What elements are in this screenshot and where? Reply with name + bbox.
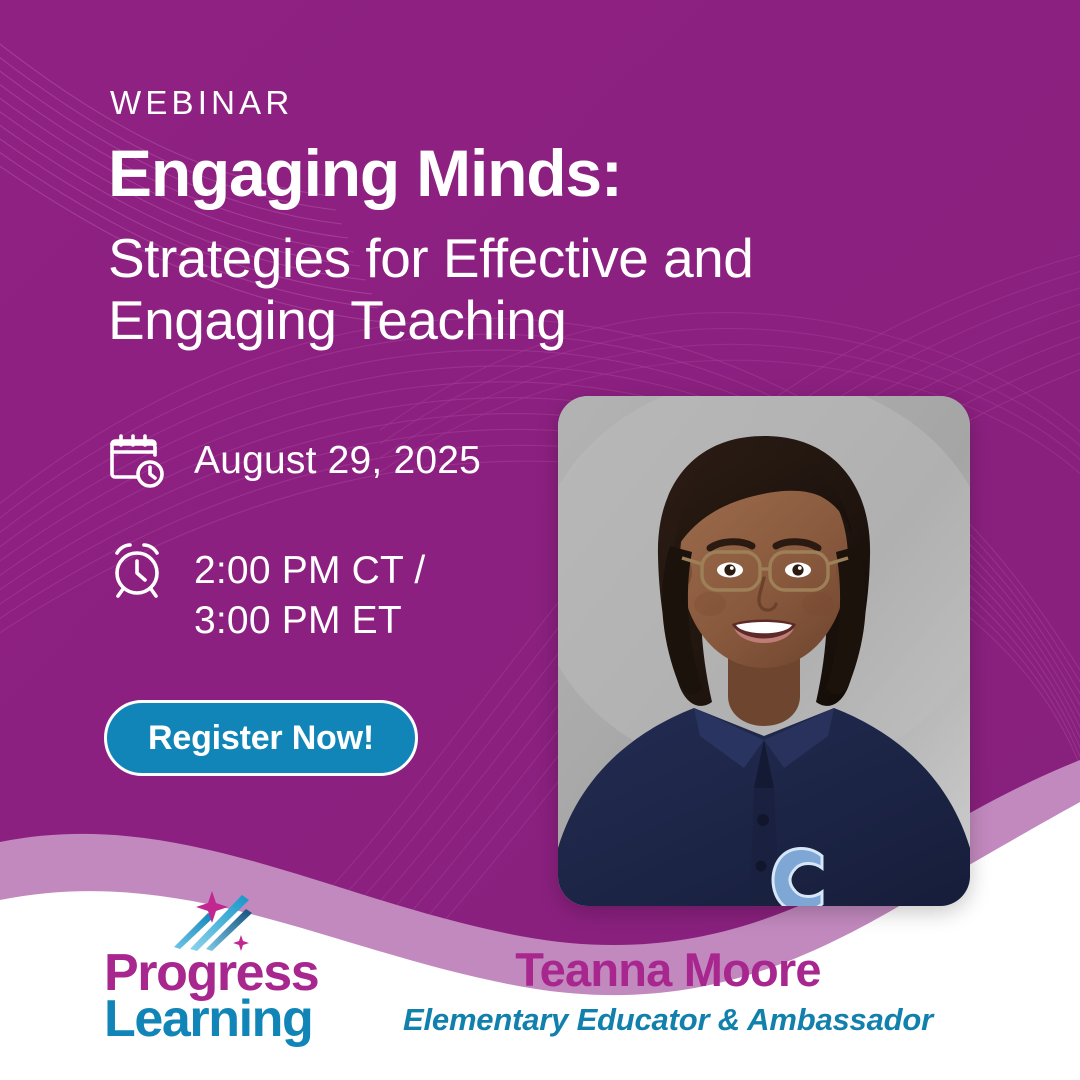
time-value: 2:00 PM CT / 3:00 PM ET — [194, 540, 425, 646]
logo-word-learning: Learning — [104, 993, 312, 1045]
speaker-photo — [558, 396, 970, 906]
time-row: 2:00 PM CT / 3:00 PM ET — [106, 540, 425, 646]
date-value: August 29, 2025 — [194, 430, 481, 486]
register-now-button[interactable]: Register Now! — [104, 700, 418, 776]
webinar-poster: WEBINAR Engaging Minds: Strategies for E… — [0, 0, 1080, 1080]
eyebrow-label: WEBINAR — [110, 86, 293, 119]
speaker-info: Teanna Moore Elementary Educator & Ambas… — [348, 945, 988, 1038]
speaker-name: Teanna Moore — [348, 945, 988, 995]
speaker-role: Elementary Educator & Ambassador — [348, 1001, 988, 1038]
progress-learning-logo: Progress Learning — [100, 885, 350, 1045]
calendar-clock-icon — [106, 430, 168, 492]
page-subtitle: Strategies for Effective and Engaging Te… — [108, 228, 753, 351]
register-now-label: Register Now! — [148, 719, 374, 758]
page-title: Engaging Minds: — [108, 140, 622, 207]
date-row: August 29, 2025 — [106, 430, 481, 492]
alarm-clock-icon — [106, 540, 168, 602]
